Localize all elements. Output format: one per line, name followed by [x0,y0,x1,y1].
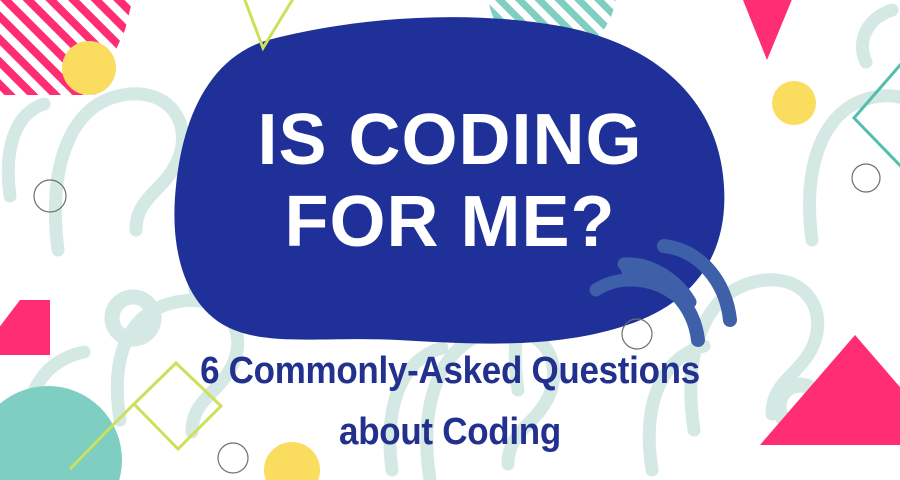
pink-triangle-left [0,300,50,355]
small-circle-outline [622,319,652,349]
yellow-circle-top-right [772,81,816,125]
yellow-circle-top-left [62,41,116,95]
headline-blob [174,17,724,344]
pink-triangle-top-right [735,0,800,60]
small-circle-outline [218,443,248,473]
poster-canvas: IS CODING FOR ME? 6 Commonly-Asked Quest… [0,0,900,480]
yellow-circle-bottom [264,442,320,480]
teal-ring-left [112,297,154,339]
background-artwork [0,0,900,480]
small-circle-outline [852,164,880,192]
